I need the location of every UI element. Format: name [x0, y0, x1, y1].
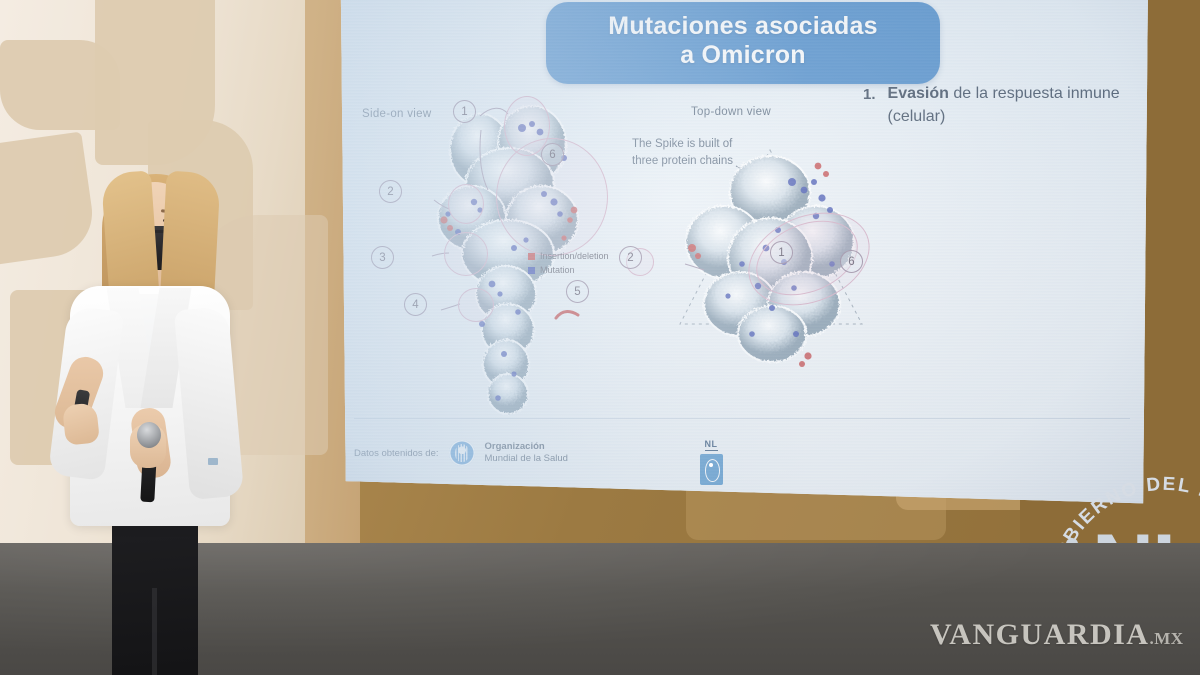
- annotation-marker-4: 4: [404, 293, 427, 316]
- watermark-text: VANGUARDIA: [930, 618, 1149, 651]
- slide-title-line-2: a Omicron: [568, 41, 918, 70]
- who-logo-text: Organización Mundial de la Salud: [485, 441, 568, 466]
- annotation-marker-6: 6: [541, 143, 564, 166]
- legend-label-insertion-deletion: Insertion/deletion: [540, 250, 609, 264]
- annotation-marker-right-2: 2: [619, 246, 642, 269]
- annotation-marker-3: 3: [371, 246, 394, 269]
- annotation-marker-5: 5: [566, 280, 589, 303]
- highlight-ellipse: [448, 184, 484, 224]
- screenshot-root: Mutaciones asociadas a Omicron 1. Evasió…: [0, 0, 1200, 675]
- legend-swatch-insertion-deletion: [528, 253, 535, 260]
- highlight-ellipse: [444, 232, 488, 276]
- who-line-1: Organización: [485, 441, 545, 452]
- legend-swatch-mutation: [528, 267, 535, 274]
- label-top-down-view: Top-down view: [691, 106, 771, 118]
- projection-screen: Mutaciones asociadas a Omicron 1. Evasió…: [336, 0, 1148, 516]
- highlight-ellipse: [458, 288, 494, 322]
- deletion-marker-icon: [554, 306, 584, 324]
- bullet-number: 1.: [863, 83, 876, 105]
- slide-title-banner: Mutaciones asociadas a Omicron: [546, 2, 940, 84]
- annotation-marker-right-1: 1: [770, 241, 793, 264]
- who-logo-icon: [449, 440, 475, 466]
- slide-title-line-1: Mutaciones asociadas: [568, 12, 918, 41]
- nl-badge-label: NL: [705, 439, 718, 451]
- slide-source-footer: Datos obtenidos de: Organización Mundial…: [354, 440, 568, 466]
- presenter-coat-badge: [208, 458, 218, 465]
- slide-legend: Insertion/deletion Mutation: [528, 250, 609, 278]
- footer-divider: [354, 418, 1130, 419]
- annotation-marker-1: 1: [453, 100, 476, 123]
- slide-canvas: Mutaciones asociadas a Omicron 1. Evasió…: [336, 0, 1148, 516]
- nuevo-leon-badge: NL: [691, 434, 731, 485]
- bullet-bold-word: Evasión: [888, 85, 949, 102]
- presenter-figure: [30, 168, 245, 675]
- nl-badge-emblem-icon: [700, 454, 723, 485]
- annotation-marker-right-6: 6: [840, 250, 863, 273]
- slide-bullet-1: 1. Evasión de la respuesta inmune (celul…: [863, 83, 1128, 128]
- vanguardia-watermark: VANGUARDIA.MX: [930, 618, 1184, 652]
- source-label: Datos obtenidos de:: [354, 448, 439, 459]
- legend-item: Mutation: [528, 264, 609, 278]
- legend-label-mutation: Mutation: [540, 264, 575, 278]
- watermark-suffix: .MX: [1149, 629, 1183, 648]
- who-line-2: Mundial de la Salud: [485, 453, 568, 464]
- presenter-trousers-seam: [152, 588, 157, 675]
- legend-item: Insertion/deletion: [528, 250, 609, 264]
- bullet-text: Evasión de la respuesta inmune (celular): [888, 83, 1128, 128]
- annotation-marker-2: 2: [379, 180, 402, 203]
